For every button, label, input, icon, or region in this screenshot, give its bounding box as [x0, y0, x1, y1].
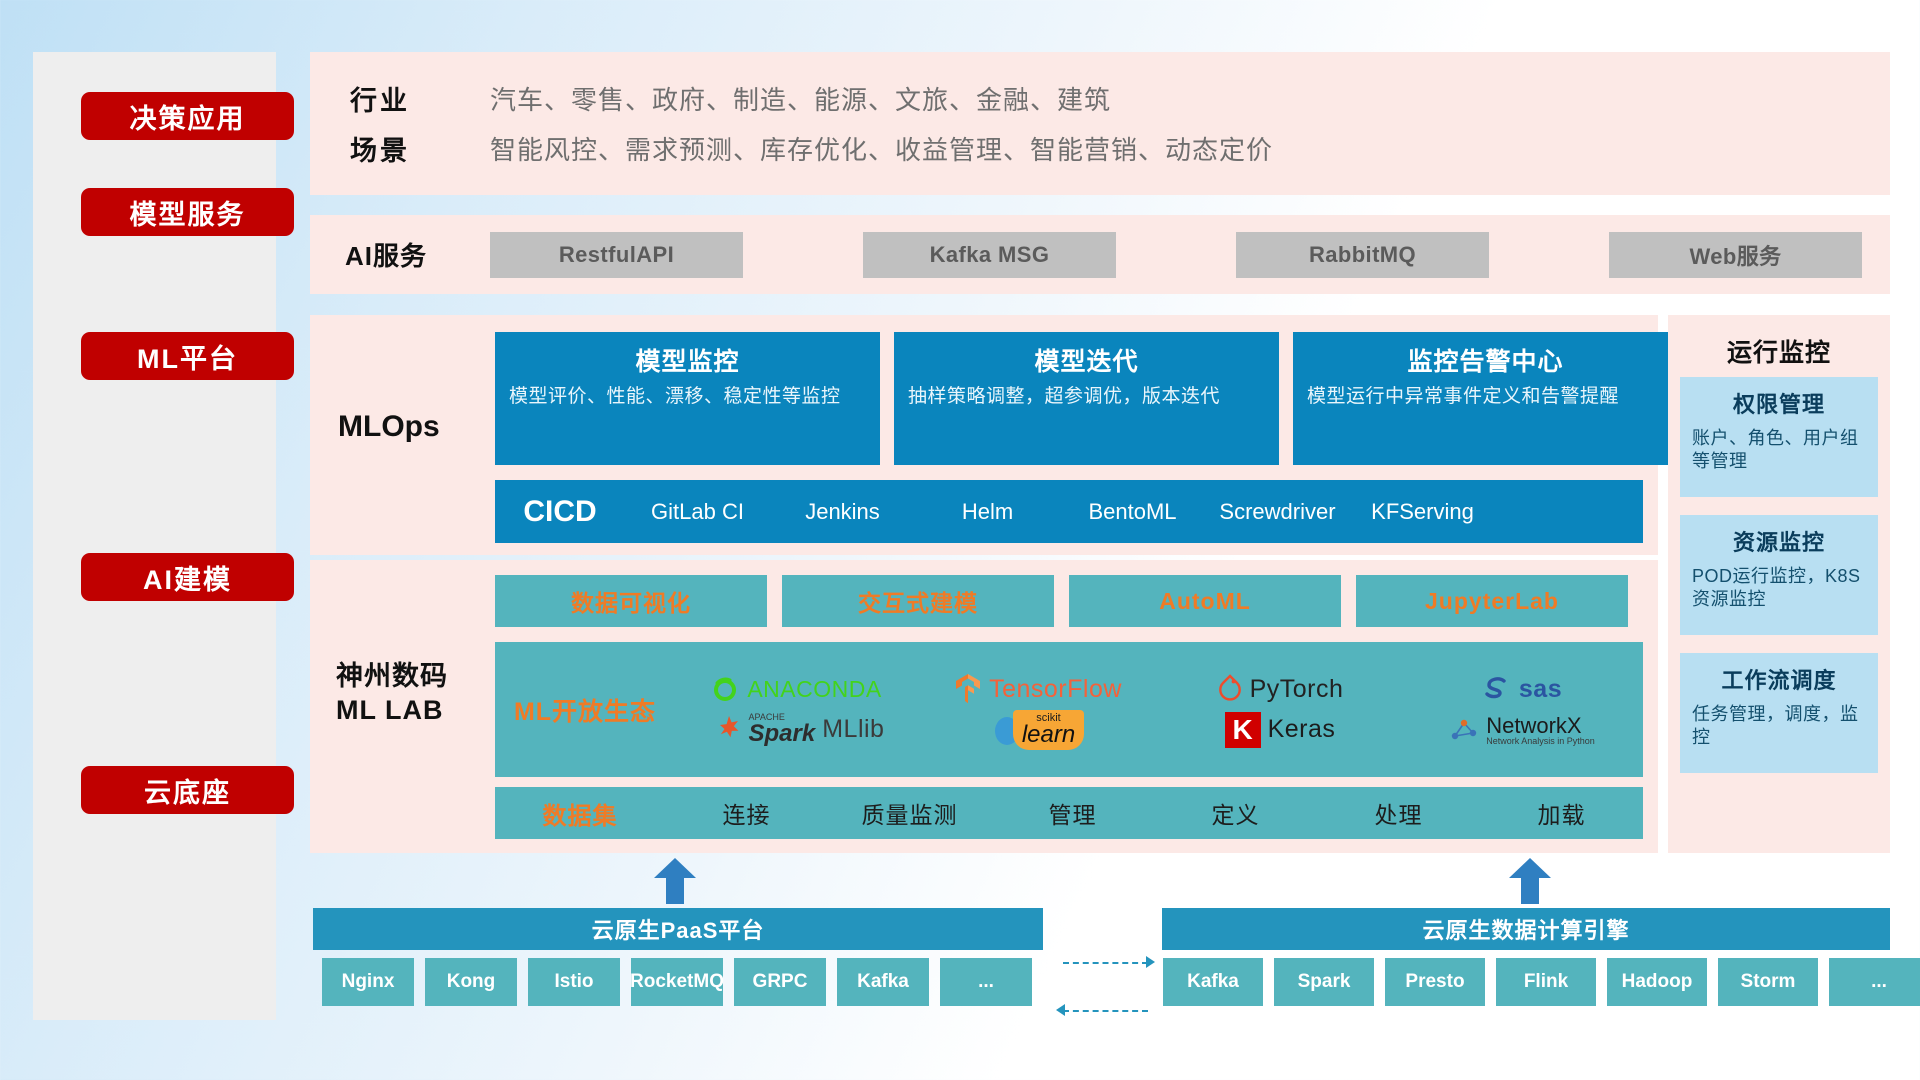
anaconda-wordmark: ANACONDA [747, 676, 881, 703]
cicd-bar: CICD GitLab CI Jenkins Helm BentoML Scre… [495, 480, 1643, 543]
rail-item-model-service[interactable]: 模型服务 [81, 188, 294, 236]
card-desc: 模型评价、性能、漂移、稳定性等监控 [509, 384, 866, 409]
rail-label: 决策应用 [130, 97, 246, 136]
dataset-item-process[interactable]: 处理 [1317, 796, 1480, 830]
tensorflow-logo: TensorFlow [954, 673, 1122, 705]
ml-lab-label: 神州数码 ML LAB [336, 660, 496, 728]
tensorflow-wordmark: TensorFlow [989, 675, 1122, 704]
industry-row: 行业 汽车、零售、政府、制造、能源、文旅、金融、建筑 [310, 73, 1890, 123]
monitor-card-workflow[interactable]: 工作流调度 任务管理，调度，监控 [1680, 653, 1878, 773]
mlops-card-model-iteration[interactable]: 模型迭代 抽样策略调整，超参调优，版本迭代 [894, 332, 1279, 465]
rail-label: ML平台 [137, 337, 238, 376]
chip-kafka[interactable]: Kafka [837, 958, 929, 1006]
left-rail: 决策应用 模型服务 ML平台 AI建模 云底座 [33, 52, 276, 1020]
chip-more-paas[interactable]: ... [940, 958, 1032, 1006]
mlops-card-alert-center[interactable]: 监控告警中心 模型运行中异常事件定义和告警提醒 [1293, 332, 1678, 465]
spark-wordmark: Spark [749, 722, 816, 746]
tab-jupyterlab[interactable]: JupyterLab [1356, 575, 1628, 627]
card-title: 权限管理 [1692, 387, 1866, 419]
card-title: 模型监控 [509, 342, 866, 378]
service-box-web[interactable]: Web服务 [1609, 232, 1862, 278]
ml-lab-label-line2: ML LAB [336, 694, 496, 728]
keras-k-mark: K [1225, 712, 1261, 748]
cicd-item-helm[interactable]: Helm [915, 497, 1060, 527]
spark-mllib-logo: APACHE Spark MLlib [708, 713, 885, 746]
data-engine-bar-label: 云原生数据计算引擎 [1422, 913, 1629, 945]
chip-grpc[interactable]: GRPC [734, 958, 826, 1006]
keras-wordmark: Keras [1268, 715, 1336, 744]
rail-label: AI建模 [143, 558, 232, 597]
rail-label: 云底座 [144, 771, 231, 810]
ai-service-label: AI服务 [310, 236, 490, 273]
ml-platform-panel: MLOps 模型监控 模型评价、性能、漂移、稳定性等监控 模型迭代 抽样策略调整… [310, 315, 1658, 555]
service-box-label: Kafka MSG [930, 242, 1050, 268]
dash-connector-right [1063, 962, 1148, 964]
cicd-label: CICD [495, 495, 625, 529]
tab-interactive-modeling[interactable]: 交互式建模 [782, 575, 1054, 627]
service-box-rabbitmq[interactable]: RabbitMQ [1236, 232, 1489, 278]
card-desc: 账户、角色、用户组等管理 [1692, 427, 1866, 474]
networkx-graph-icon [1449, 716, 1479, 744]
cloud-native-paas-bar: 云原生PaaS平台 [313, 908, 1043, 950]
card-desc: POD运行监控，K8S资源监控 [1692, 565, 1866, 612]
tab-automl[interactable]: AutoML [1069, 575, 1341, 627]
cloud-native-data-engine-bar: 云原生数据计算引擎 [1162, 908, 1890, 950]
dataset-item-load[interactable]: 加载 [1480, 796, 1643, 830]
dataset-bar: 数据集 连接 质量监测 管理 定义 处理 加载 [495, 787, 1643, 839]
service-box-restfulapi[interactable]: RestfulAPI [490, 232, 743, 278]
paas-bar-label: 云原生PaaS平台 [592, 913, 765, 945]
industry-values: 汽车、零售、政府、制造、能源、文旅、金融、建筑 [490, 80, 1111, 117]
rail-label: 模型服务 [130, 193, 246, 232]
card-title: 监控告警中心 [1307, 342, 1664, 378]
ml-ecosystem-logo-grid: ANACONDA TensorFlow [675, 669, 1643, 751]
runtime-monitor-panel: 运行监控 权限管理 账户、角色、用户组等管理 资源监控 POD运行监控，K8S资… [1668, 315, 1890, 853]
chip-spark[interactable]: Spark [1274, 958, 1374, 1006]
card-title: 模型迭代 [908, 342, 1265, 378]
pytorch-logo: PyTorch [1217, 674, 1344, 704]
service-box-label: RabbitMQ [1309, 242, 1416, 268]
ai-modeling-panel: 神州数码 ML LAB 数据可视化 交互式建模 AutoML JupyterLa… [310, 560, 1658, 853]
chip-rocketmq[interactable]: RocketMQ [631, 958, 723, 1006]
ai-service-box-group: RestfulAPI Kafka MSG RabbitMQ Web服务 [490, 232, 1890, 278]
anaconda-icon [710, 674, 740, 704]
cicd-item-gitlab-ci[interactable]: GitLab CI [625, 497, 770, 527]
ml-ecosystem-bar: ML开放生态 ANACONDA Tensor [495, 642, 1643, 777]
scene-values: 智能风控、需求预测、库存优化、收益管理、智能营销、动态定价 [490, 130, 1273, 167]
rail-item-decision-app[interactable]: 决策应用 [81, 92, 294, 140]
chip-presto[interactable]: Presto [1385, 958, 1485, 1006]
scene-row: 场景 智能风控、需求预测、库存优化、收益管理、智能营销、动态定价 [310, 123, 1890, 173]
rail-item-ml-platform[interactable]: ML平台 [81, 332, 294, 380]
card-title: 工作流调度 [1692, 663, 1866, 695]
sas-logo: sas [1482, 675, 1562, 704]
dataset-item-connect[interactable]: 连接 [665, 796, 828, 830]
dataset-item-quality[interactable]: 质量监测 [828, 796, 991, 830]
sas-icon [1482, 675, 1512, 703]
chip-more-data[interactable]: ... [1829, 958, 1920, 1006]
service-box-kafka-msg[interactable]: Kafka MSG [863, 232, 1116, 278]
monitor-card-permission[interactable]: 权限管理 账户、角色、用户组等管理 [1680, 377, 1878, 497]
chip-nginx[interactable]: Nginx [322, 958, 414, 1006]
chip-istio[interactable]: Istio [528, 958, 620, 1006]
ml-ecosystem-label: ML开放生态 [495, 692, 675, 728]
mlops-card-group: 模型监控 模型评价、性能、漂移、稳定性等监控 模型迭代 抽样策略调整，超参调优，… [495, 332, 1678, 465]
dataset-label: 数据集 [495, 796, 665, 831]
chip-kong[interactable]: Kong [425, 958, 517, 1006]
paas-chip-strip: Nginx Kong Istio RocketMQ GRPC Kafka ... [322, 958, 1032, 1006]
rail-item-cloud-base[interactable]: 云底座 [81, 766, 294, 814]
networkx-tagline: Network Analysis in Python [1486, 737, 1595, 746]
card-desc: 抽样策略调整，超参调优，版本迭代 [908, 384, 1265, 409]
learn-wordmark: learn [1022, 724, 1075, 747]
networkx-wordmark: NetworkX [1486, 714, 1595, 737]
service-box-label: Web服务 [1689, 239, 1781, 271]
tab-label: JupyterLab [1425, 588, 1559, 615]
mllib-wordmark: MLlib [822, 715, 884, 744]
industry-label: 行业 [310, 79, 490, 118]
tab-data-visualization[interactable]: 数据可视化 [495, 575, 767, 627]
runtime-monitor-title: 运行监控 [1668, 333, 1890, 369]
architecture-diagram: 决策应用 模型服务 ML平台 AI建模 云底座 行业 汽车、零售、政府、制造、能… [0, 0, 1920, 1080]
chip-kafka-data[interactable]: Kafka [1163, 958, 1263, 1006]
chip-flink[interactable]: Flink [1496, 958, 1596, 1006]
up-arrow-paas [654, 858, 696, 904]
card-desc: 模型运行中异常事件定义和告警提醒 [1307, 384, 1664, 409]
pytorch-icon [1217, 674, 1243, 704]
runtime-monitor-card-group: 权限管理 账户、角色、用户组等管理 资源监控 POD运行监控，K8S资源监控 工… [1680, 377, 1878, 773]
dash-connector-left [1063, 1010, 1148, 1012]
cicd-item-screwdriver[interactable]: Screwdriver [1205, 497, 1350, 527]
dataset-item-define[interactable]: 定义 [1154, 796, 1317, 830]
anaconda-logo: ANACONDA [710, 674, 881, 704]
keras-logo: K Keras [1225, 712, 1336, 748]
dataset-item-manage[interactable]: 管理 [991, 796, 1154, 830]
up-arrow-data-engine [1509, 858, 1551, 904]
cicd-item-jenkins[interactable]: Jenkins [770, 497, 915, 527]
networkx-logo: NetworkX Network Analysis in Python [1449, 714, 1595, 747]
scene-label: 场景 [310, 129, 490, 168]
modeling-tab-group: 数据可视化 交互式建模 AutoML JupyterLab [495, 575, 1628, 627]
data-engine-chip-strip: Kafka Spark Presto Flink Hadoop Storm ..… [1163, 958, 1920, 1006]
monitor-card-resource[interactable]: 资源监控 POD运行监控，K8S资源监控 [1680, 515, 1878, 635]
cicd-item-kfserving[interactable]: KFServing [1350, 497, 1495, 527]
mlops-card-model-monitoring[interactable]: 模型监控 模型评价、性能、漂移、稳定性等监控 [495, 332, 880, 465]
card-desc: 任务管理，调度，监控 [1692, 703, 1866, 750]
spark-star-icon [708, 714, 742, 746]
ml-lab-label-line1: 神州数码 [336, 660, 496, 694]
cicd-item-bentoml[interactable]: BentoML [1060, 497, 1205, 527]
mlops-label: MLOps [338, 410, 488, 444]
tab-label: 交互式建模 [858, 584, 978, 618]
scikit-learn-logo: scikit learn [992, 710, 1084, 751]
tab-label: AutoML [1159, 588, 1251, 615]
ai-service-panel: AI服务 RestfulAPI Kafka MSG RabbitMQ Web服务 [310, 215, 1890, 294]
dash-arrow-left [1056, 1004, 1065, 1016]
sas-wordmark: sas [1519, 675, 1562, 704]
chip-storm[interactable]: Storm [1718, 958, 1818, 1006]
decision-application-panel: 行业 汽车、零售、政府、制造、能源、文旅、金融、建筑 场景 智能风控、需求预测、… [310, 52, 1890, 195]
tab-label: 数据可视化 [571, 584, 691, 618]
rail-item-ai-modeling[interactable]: AI建模 [81, 553, 294, 601]
dash-arrow-right [1146, 956, 1155, 968]
pytorch-wordmark: PyTorch [1250, 675, 1344, 704]
service-box-label: RestfulAPI [559, 242, 674, 268]
tensorflow-icon [954, 673, 982, 705]
chip-hadoop[interactable]: Hadoop [1607, 958, 1707, 1006]
card-title: 资源监控 [1692, 525, 1866, 557]
